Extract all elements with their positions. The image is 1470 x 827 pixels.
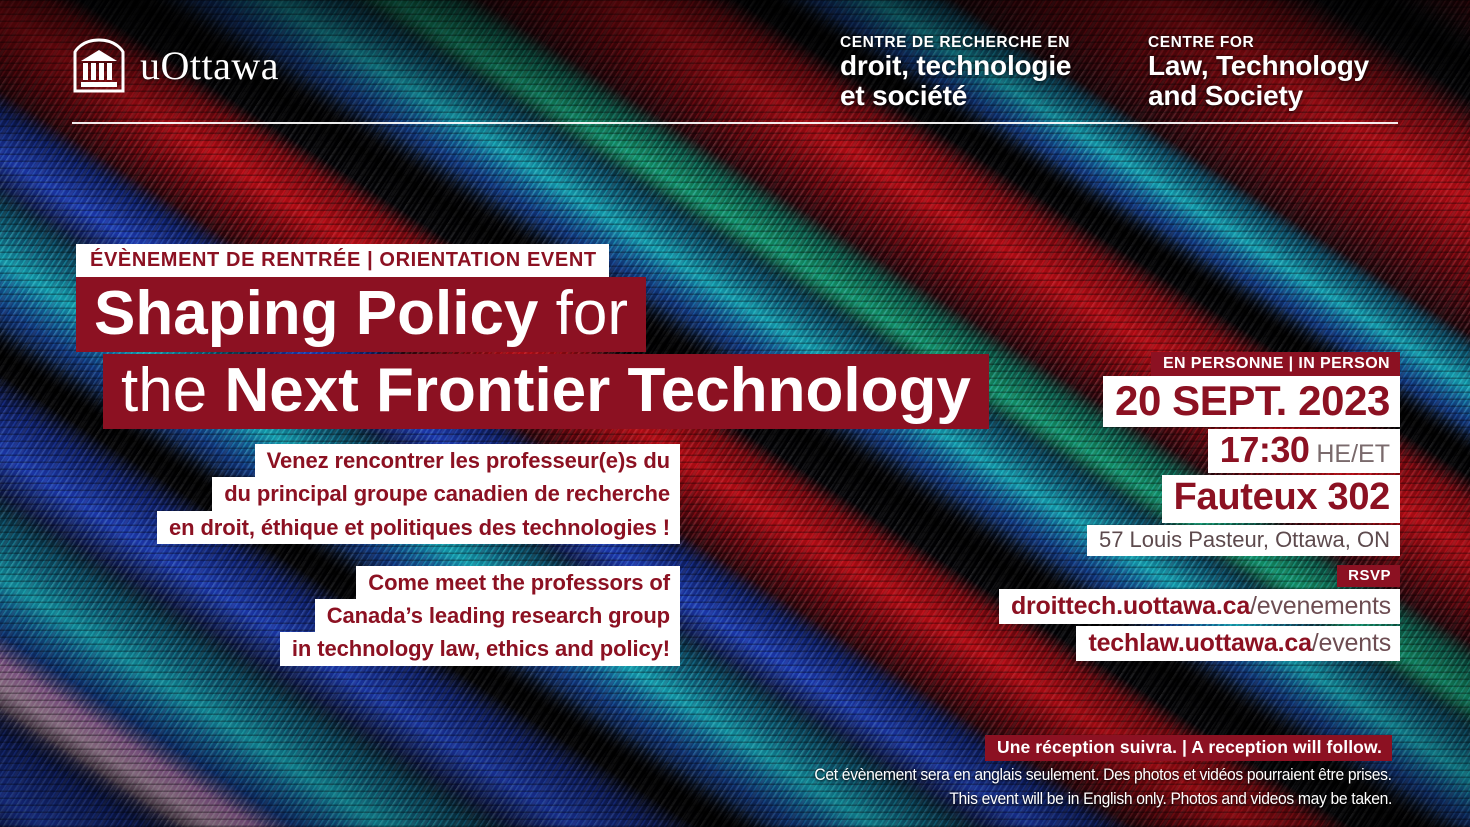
format-badge: EN PERSONNE | IN PERSON [1151, 352, 1400, 376]
rsvp-url-fr-path: /evenements [1250, 592, 1391, 620]
rsvp-block: RSVP droittech.uottawa.ca/evenements tec… [999, 565, 1400, 661]
description-fr-line-2: du principal groupe canadien de recherch… [212, 477, 680, 510]
event-poster: uOttawa CENTRE DE RECHERCHE EN droit, te… [0, 0, 1470, 827]
title-line-2-bold: Next Frontier Technology [224, 356, 970, 425]
event-time-row: 17:30HE/ET [1208, 429, 1400, 473]
rsvp-url-fr-domain: droittech.uottawa.ca [1011, 592, 1250, 620]
event-eyebrow: ÉVÈNEMENT DE RENTRÉE | ORIENTATION EVENT [76, 244, 609, 277]
centre-en-line2: and Society [1148, 81, 1448, 111]
centre-fr-line1: droit, technologie [840, 51, 1140, 81]
reception-notice: Une réception suivra. | A reception will… [985, 735, 1392, 761]
rsvp-url-french[interactable]: droittech.uottawa.ca/evenements [999, 589, 1400, 624]
centre-name-french: CENTRE DE RECHERCHE EN droit, technologi… [840, 34, 1140, 111]
centre-en-line1: Law, Technology [1148, 51, 1448, 81]
description-english: Come meet the professors of Canada’s lea… [280, 566, 680, 666]
rsvp-url-english[interactable]: techlaw.uottawa.ca/events [1076, 626, 1400, 661]
title-line-1-light: for [556, 279, 628, 348]
footer-note-french: Cet évènement sera en anglais seulement.… [815, 766, 1392, 785]
title-line-2-light: the [121, 356, 207, 425]
title-line-2: the Next Frontier Technology [103, 354, 989, 429]
event-time: 17:30 [1220, 429, 1310, 470]
title-line-1-bold: Shaping Policy [94, 279, 538, 348]
event-timezone: HE/ET [1316, 440, 1390, 468]
title-line-1: Shaping Policy for [76, 277, 646, 352]
rsvp-badge: RSVP [1337, 565, 1400, 587]
description-en-line-2: Canada’s leading research group [315, 599, 680, 632]
poster-header: uOttawa CENTRE DE RECHERCHE EN droit, te… [0, 0, 1470, 132]
event-address: 57 Louis Pasteur, Ottawa, ON [1087, 525, 1400, 556]
centre-name-english: CENTRE FOR Law, Technology and Society [1148, 34, 1448, 111]
header-divider [72, 122, 1398, 124]
footer-note-english: This event will be in English only. Phot… [949, 790, 1392, 809]
centre-fr-line2: et société [840, 81, 1140, 111]
rsvp-url-en-path: /events [1312, 629, 1391, 657]
description-french: Venez rencontrer les professeur(e)s du d… [157, 444, 680, 544]
description-fr-line-1: Venez rencontrer les professeur(e)s du [255, 444, 680, 477]
event-room: Fauteux 302 [1162, 475, 1400, 523]
centre-fr-kicker: CENTRE DE RECHERCHE EN [840, 34, 1140, 51]
uottawa-logo: uOttawa [72, 38, 279, 94]
description-blocks: Venez rencontrer les professeur(e)s du d… [0, 444, 680, 666]
title-block: ÉVÈNEMENT DE RENTRÉE | ORIENTATION EVENT… [0, 244, 989, 429]
description-en-line-3: in technology law, ethics and policy! [280, 632, 680, 665]
description-fr-line-3: en droit, éthique et politiques des tech… [157, 511, 680, 544]
event-date: 20 SEPT. 2023 [1103, 376, 1400, 427]
description-en-line-1: Come meet the professors of [356, 566, 680, 599]
centre-en-kicker: CENTRE FOR [1148, 34, 1448, 51]
poster-footer: Une réception suivra. | A reception will… [784, 735, 1392, 809]
rsvp-url-en-domain: techlaw.uottawa.ca [1088, 629, 1311, 657]
event-details: EN PERSONNE | IN PERSON 20 SEPT. 2023 17… [1087, 352, 1400, 556]
uottawa-crest-temple-icon [72, 38, 126, 94]
uottawa-wordmark: uOttawa [140, 46, 279, 86]
